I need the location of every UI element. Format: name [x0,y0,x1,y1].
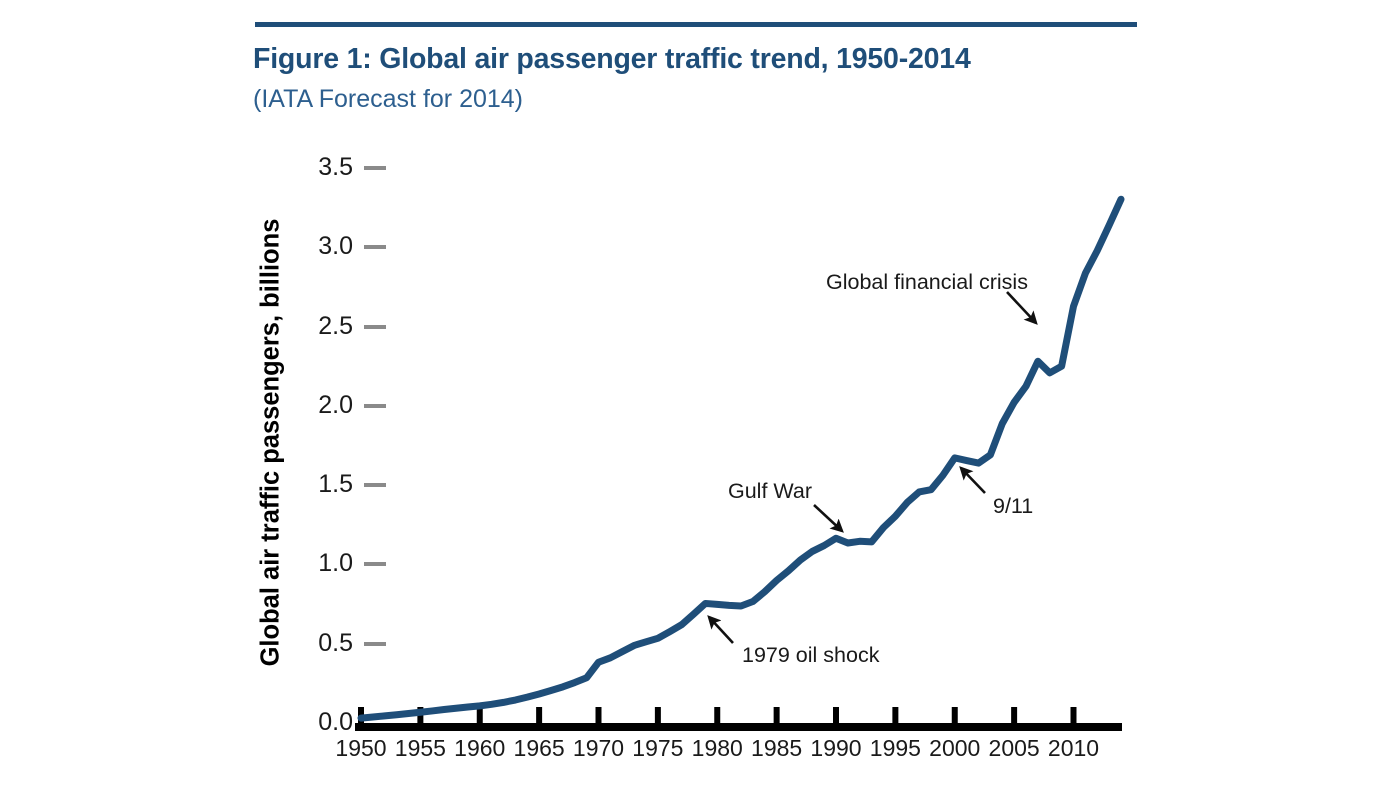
chart-svg [0,0,1386,788]
annotation-arrow-oil-shock-1979 [709,617,733,643]
annotation-arrows [709,292,1036,643]
annotation-arrow-global-financial-crisis [1007,292,1036,323]
annotation-arrow-nine-eleven [961,468,985,493]
figure-container: Figure 1: Global air passenger traffic t… [0,0,1386,788]
data-series-line [361,199,1121,718]
annotation-arrow-gulf-war [814,505,842,531]
plot-area: 0.00.51.01.52.02.53.03.5 195019551960196… [0,0,1386,788]
